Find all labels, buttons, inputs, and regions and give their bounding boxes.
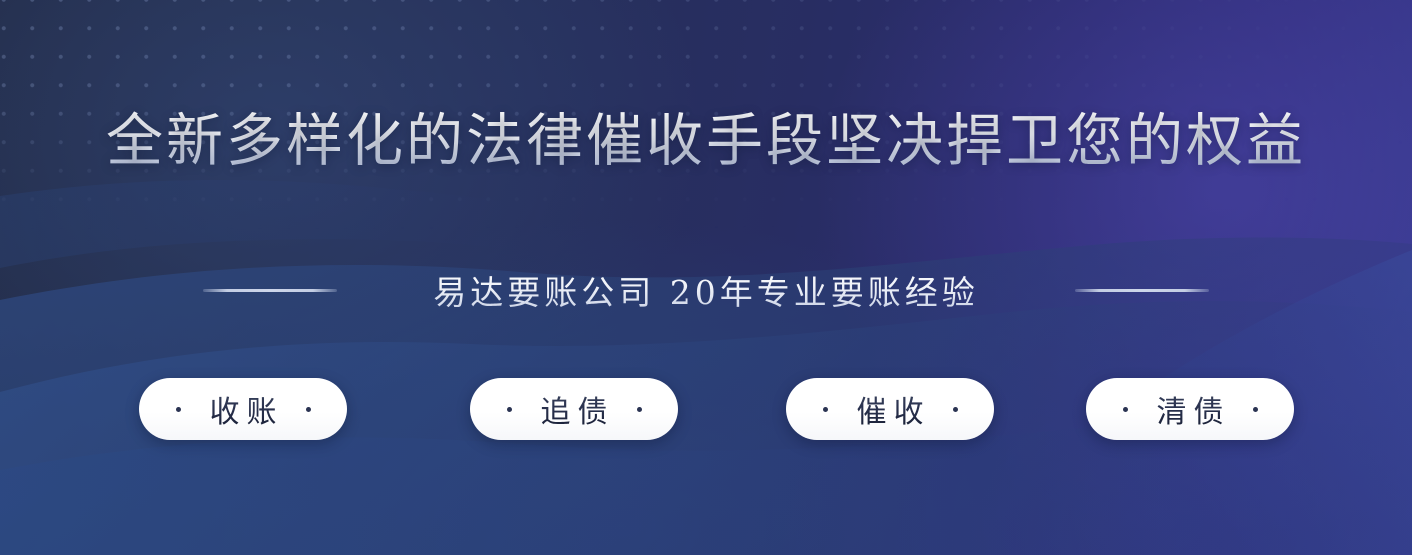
bullet-dot-icon	[507, 407, 512, 412]
promo-banner: 全新多样化的法律催收手段坚决捍卫您的权益 易达要账公司 20年专业要账经验 收账…	[0, 0, 1412, 555]
service-tag-label: 清债	[1150, 387, 1231, 431]
service-tag-qingzhai[interactable]: 清债	[1086, 378, 1294, 440]
headline: 全新多样化的法律催收手段坚决捍卫您的权益	[0, 108, 1412, 175]
bullet-dot-icon	[306, 407, 311, 412]
bullet-dot-icon	[1253, 407, 1258, 412]
banner-content: 全新多样化的法律催收手段坚决捍卫您的权益 易达要账公司 20年专业要账经验 收账…	[0, 0, 1412, 555]
subtitle: 易达要账公司 20年专业要账经验	[433, 266, 978, 314]
divider-left	[203, 289, 337, 292]
bullet-dot-icon	[637, 407, 642, 412]
bullet-dot-icon	[1123, 407, 1128, 412]
service-tag-shouzhang[interactable]: 收账	[139, 378, 347, 440]
service-tag-list: 收账 追债 催收 清债	[0, 378, 1412, 440]
service-tag-zhuizhai[interactable]: 追债	[470, 378, 678, 440]
service-tag-cuishou[interactable]: 催收	[786, 378, 994, 440]
bullet-dot-icon	[953, 407, 958, 412]
bullet-dot-icon	[823, 407, 828, 412]
subtitle-row: 易达要账公司 20年专业要账经验	[0, 266, 1412, 314]
bullet-dot-icon	[176, 407, 181, 412]
divider-right	[1075, 289, 1209, 292]
service-tag-label: 追债	[534, 387, 615, 431]
service-tag-label: 收账	[203, 387, 284, 431]
service-tag-label: 催收	[850, 387, 931, 431]
